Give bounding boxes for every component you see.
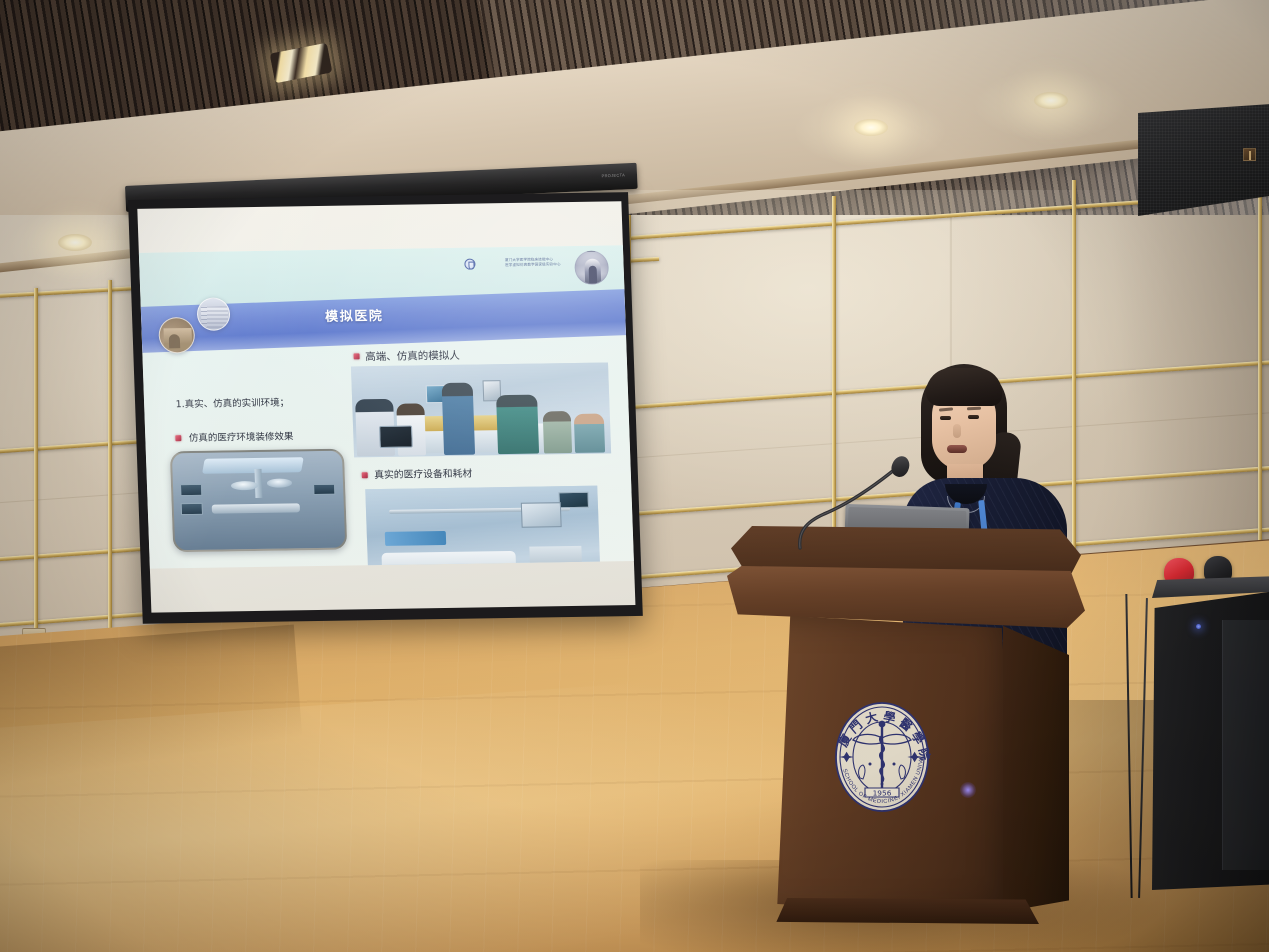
wooden-lectern: 1956 廈 門 大 學 醫 學 院 SCHOOL OF MEDICINE, X…	[705, 520, 1105, 950]
icu-vitals-monitor-icon	[521, 502, 561, 528]
presenter-eye	[940, 416, 951, 420]
slide-bullet-text-medical-decor: 仿真的医疗环境装修效果	[189, 429, 294, 445]
loudspeaker-brand-badge-icon	[1243, 148, 1256, 161]
wall-trim-vertical-2	[108, 280, 112, 652]
slide-bullet-text-simulated-human: 高端、仿真的模拟人	[365, 347, 460, 363]
sim-person	[496, 395, 539, 454]
or-surgical-lamp	[267, 478, 293, 487]
operating-room-photo	[170, 449, 348, 553]
icu-blue-light-panel	[385, 531, 446, 546]
red-square-bullet-icon	[353, 354, 359, 360]
lectern-base	[771, 898, 1039, 924]
av-equipment-rack	[1152, 558, 1269, 898]
soffit-downlight-4	[1034, 92, 1068, 109]
icu-bed	[381, 551, 517, 568]
conference-hall-photograph: PROJECTA 厦门大学医学院临床技能中心 医学虚拟仿真教学国家级实验中心 模…	[0, 0, 1269, 952]
lectern-indicator-light	[960, 782, 976, 798]
seal-svg: 1956 廈 門 大 學 醫 學 院 SCHOOL OF MEDICINE, X…	[827, 692, 937, 822]
icu-wall-monitor-icon	[558, 492, 589, 509]
screen-case-brand-label: PROJECTA	[601, 172, 625, 178]
av-rack-door[interactable]	[1222, 620, 1269, 870]
projection-screen-frame: 厦门大学医学院临床技能中心 医学虚拟仿真教学国家级实验中心 模拟医院 高端、仿真…	[128, 192, 643, 624]
lectern-side-panel	[1003, 620, 1069, 912]
or-ceiling-light	[202, 457, 303, 474]
presentation-slide: 厦门大学医学院临床技能中心 医学虚拟仿真教学国家级实验中心 模拟医院 高端、仿真…	[139, 246, 634, 569]
or-surgical-lamp	[231, 481, 259, 490]
lectern-top-front-face	[727, 566, 1085, 628]
slide-bullet-text-training-environment: 1.真实、仿真的实训环境；	[175, 394, 289, 410]
seal-year: 1956	[873, 788, 892, 797]
or-monitor-icon	[313, 484, 336, 496]
or-operating-table	[211, 504, 300, 514]
presenter-hair-front	[926, 368, 1002, 406]
soffit-downlight-1	[58, 234, 92, 251]
slide-org-line-2: 医学虚拟仿真教学国家级实验中心	[505, 262, 561, 268]
projection-screen-surface: 厦门大学医学院临床技能中心 医学虚拟仿真教学国家级实验中心 模拟医院 高端、仿真…	[137, 201, 635, 612]
slide-title: 模拟医院	[325, 305, 384, 325]
red-square-bullet-icon	[175, 435, 181, 441]
sim-person	[441, 383, 474, 455]
or-monitor-icon	[181, 503, 204, 515]
or-monitor-icon	[180, 484, 203, 496]
simulation-training-photo	[351, 362, 611, 457]
slide-bullet-text-real-equipment: 真实的医疗设备和耗材	[374, 465, 472, 481]
sim-person	[573, 414, 605, 453]
av-rack-power-led	[1196, 624, 1201, 629]
presenter-mouth	[947, 445, 967, 453]
slide-organization-text: 厦门大学医学院临床技能中心 医学虚拟仿真教学国家级实验中心	[505, 257, 561, 269]
gooseneck-microphone[interactable]	[796, 460, 906, 550]
school-of-medicine-seal: 1956 廈 門 大 學 醫 學 院 SCHOOL OF MEDICINE, X…	[827, 692, 937, 822]
wall-mounted-loudspeaker	[1138, 104, 1269, 216]
loudspeaker-grille	[1138, 104, 1269, 216]
sim-person	[543, 411, 573, 453]
presenter-nose	[953, 424, 961, 438]
soffit-downlight-3	[854, 119, 888, 136]
icu-equipment-photo	[365, 486, 601, 569]
icu-ventilator-cart	[530, 546, 582, 568]
projection-screen: PROJECTA 厦门大学医学院临床技能中心 医学虚拟仿真教学国家级实验中心 模…	[120, 186, 640, 626]
red-square-bullet-icon	[362, 472, 368, 478]
wall-trim-vertical-1	[34, 288, 38, 648]
sim-tablet-icon	[379, 426, 413, 448]
campus-building-circle-photo-2	[196, 298, 230, 331]
presenter-eye	[968, 415, 979, 419]
microphone-gooseneck-svg	[796, 460, 906, 550]
